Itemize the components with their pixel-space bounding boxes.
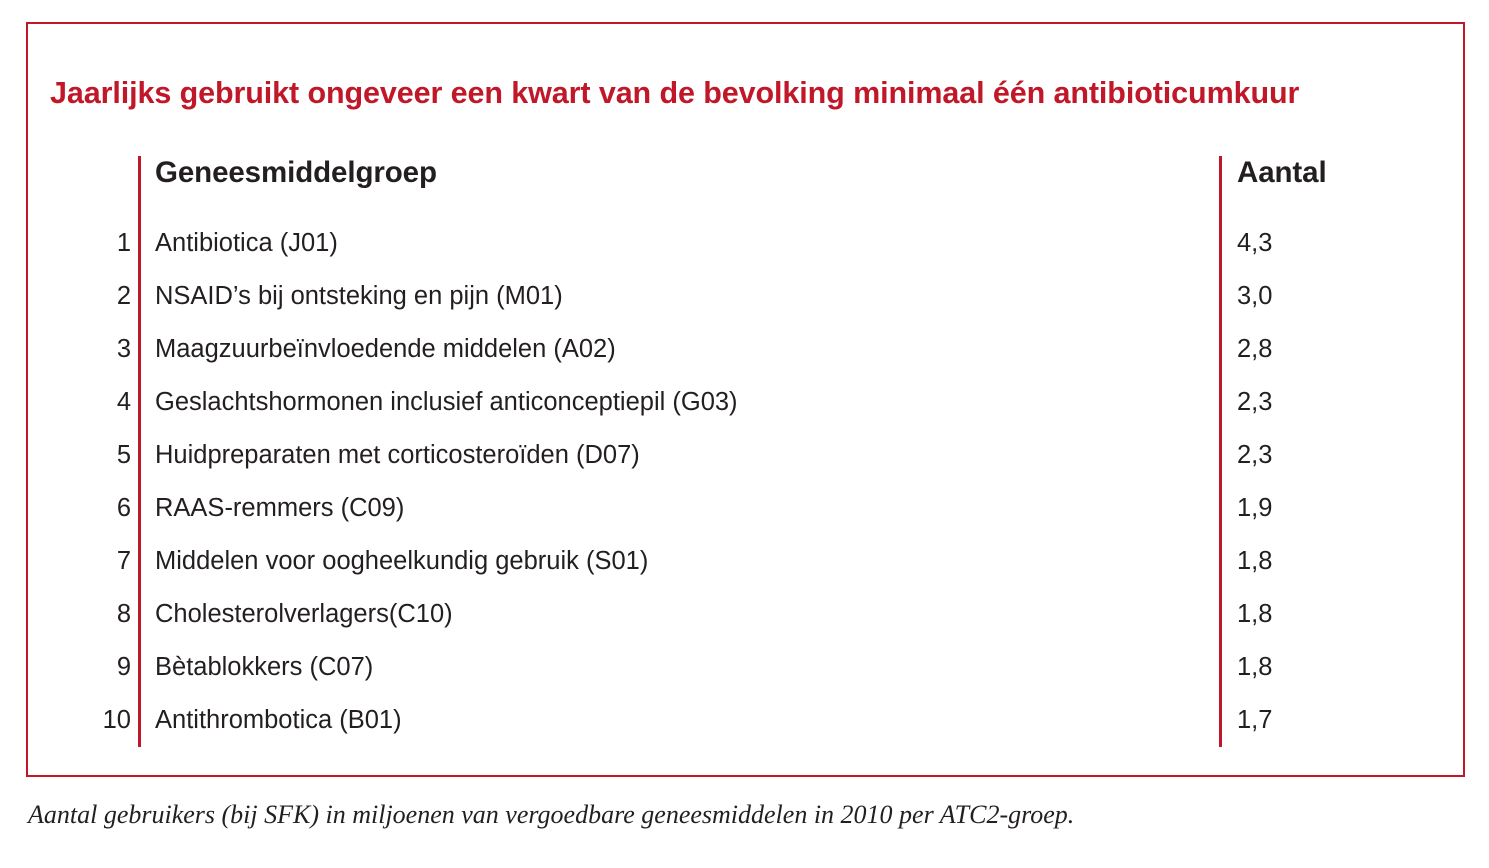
header-value: Aantal bbox=[1237, 156, 1437, 190]
row-value: 1,7 bbox=[1237, 706, 1437, 735]
row-rank: 1 bbox=[28, 229, 131, 258]
row-name: Huidpreparaten met corticosteroïden (D07… bbox=[155, 441, 1205, 470]
row-value: 4,3 bbox=[1237, 229, 1437, 258]
table-row[interactable]: 4 Geslachtshormonen inclusief anticoncep… bbox=[28, 388, 1463, 441]
table-row[interactable]: 3 Maagzuurbeïnvloedende middelen (A02) 2… bbox=[28, 335, 1463, 388]
row-name: Middelen voor oogheelkundig gebruik (S01… bbox=[155, 547, 1205, 576]
row-value: 3,0 bbox=[1237, 282, 1437, 311]
figure-root: Jaarlijks gebruikt ongeveer een kwart va… bbox=[0, 0, 1489, 868]
row-value: 2,3 bbox=[1237, 388, 1437, 417]
header-name: Geneesmiddelgroep bbox=[155, 156, 1205, 190]
row-value: 2,3 bbox=[1237, 441, 1437, 470]
row-rank: 2 bbox=[28, 282, 131, 311]
row-name: Bètablokkers (C07) bbox=[155, 653, 1205, 682]
table-row[interactable]: 9 Bètablokkers (C07) 1,8 bbox=[28, 653, 1463, 706]
row-rank: 4 bbox=[28, 388, 131, 417]
row-value: 1,8 bbox=[1237, 547, 1437, 576]
row-rank: 8 bbox=[28, 600, 131, 629]
row-name: Cholesterolverlagers(C10) bbox=[155, 600, 1205, 629]
table-row[interactable]: 6 RAAS-remmers (C09) 1,9 bbox=[28, 494, 1463, 547]
row-rank: 5 bbox=[28, 441, 131, 470]
row-name: Antithrombotica (B01) bbox=[155, 706, 1205, 735]
row-name: Antibiotica (J01) bbox=[155, 229, 1205, 258]
page-title: Jaarlijks gebruikt ongeveer een kwart va… bbox=[50, 76, 1430, 111]
row-name: RAAS-remmers (C09) bbox=[155, 494, 1205, 523]
row-value: 1,9 bbox=[1237, 494, 1437, 523]
row-rank: 10 bbox=[28, 706, 131, 735]
row-rank: 3 bbox=[28, 335, 131, 364]
row-rank: 9 bbox=[28, 653, 131, 682]
row-name: NSAID’s bij ontsteking en pijn (M01) bbox=[155, 282, 1205, 311]
row-name: Maagzuurbeïnvloedende middelen (A02) bbox=[155, 335, 1205, 364]
figure-caption: Aantal gebruikers (bij SFK) in miljoenen… bbox=[28, 800, 1448, 830]
table-row[interactable]: 8 Cholesterolverlagers(C10) 1,8 bbox=[28, 600, 1463, 653]
table-row[interactable]: 5 Huidpreparaten met corticosteroïden (D… bbox=[28, 441, 1463, 494]
table-row[interactable]: 2 NSAID’s bij ontsteking en pijn (M01) 3… bbox=[28, 282, 1463, 335]
row-value: 1,8 bbox=[1237, 653, 1437, 682]
figure-panel: Jaarlijks gebruikt ongeveer een kwart va… bbox=[26, 22, 1465, 777]
table-row[interactable]: 7 Middelen voor oogheelkundig gebruik (S… bbox=[28, 547, 1463, 600]
table-header-row: Geneesmiddelgroep Aantal bbox=[28, 156, 1463, 216]
row-value: 2,8 bbox=[1237, 335, 1437, 364]
table-row[interactable]: 10 Antithrombotica (B01) 1,7 bbox=[28, 706, 1463, 759]
table-row[interactable]: 1 Antibiotica (J01) 4,3 bbox=[28, 229, 1463, 282]
row-name: Geslachtshormonen inclusief anticoncepti… bbox=[155, 388, 1205, 417]
row-rank: 7 bbox=[28, 547, 131, 576]
row-rank: 6 bbox=[28, 494, 131, 523]
row-value: 1,8 bbox=[1237, 600, 1437, 629]
data-table: Geneesmiddelgroep Aantal 1 Antibiotica (… bbox=[28, 156, 1463, 756]
